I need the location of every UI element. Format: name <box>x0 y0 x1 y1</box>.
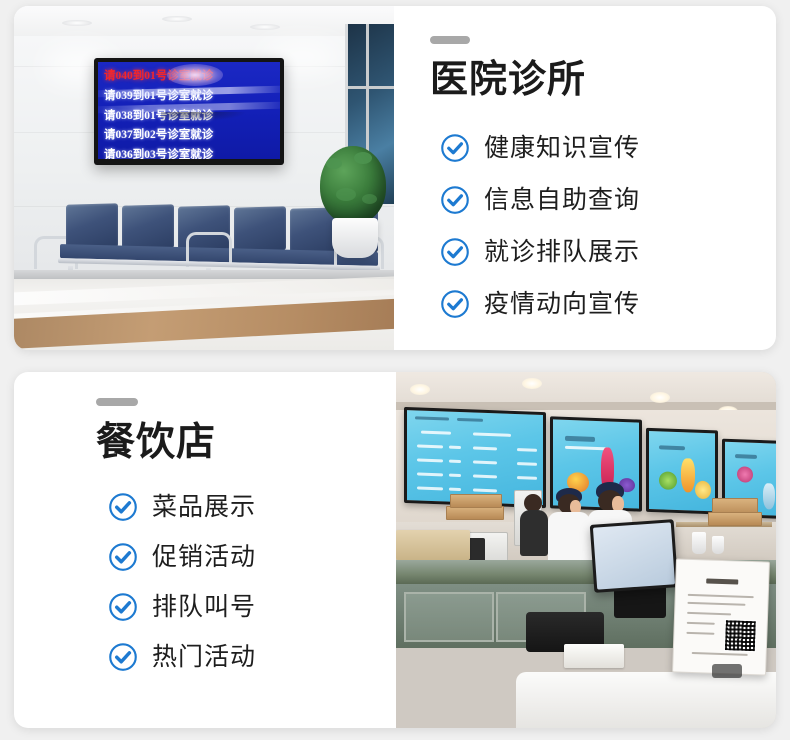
hospital-waiting-room-photo: 请040到01号诊室就诊 请039到01号诊室就诊 请038到01号诊室就诊 请… <box>14 6 394 350</box>
section-dash-icon <box>430 36 470 44</box>
card-restaurant[interactable]: 餐饮店 菜品展示 促销活动 <box>14 372 776 728</box>
list-item: 信息自助查询 <box>440 185 776 215</box>
queue-line: 请037到02号诊室就诊 <box>104 126 274 146</box>
queue-line: 请036到03号诊室就诊 <box>104 146 274 159</box>
pos-terminal <box>590 519 679 593</box>
section-dash-icon <box>96 398 138 406</box>
staff-member <box>520 494 550 556</box>
screen-glare <box>167 64 223 86</box>
check-circle-icon <box>440 237 470 267</box>
list-item: 就诊排队展示 <box>440 237 776 267</box>
page-title: 餐饮店 <box>96 423 396 462</box>
check-circle-icon <box>440 289 470 319</box>
check-circle-icon <box>108 492 138 522</box>
potted-plant <box>320 146 386 224</box>
qr-sign-stand <box>672 558 770 675</box>
qr-code-icon <box>724 619 757 652</box>
restaurant-counter-photo <box>396 372 776 728</box>
feature-list-hospital: 健康知识宣传 信息自助查询 就诊排队展示 <box>430 133 776 319</box>
feature-list-restaurant: 菜品展示 促销活动 排队叫号 <box>96 492 396 672</box>
check-circle-icon <box>108 642 138 672</box>
feature-label: 就诊排队展示 <box>484 240 640 265</box>
list-item: 促销活动 <box>108 542 396 572</box>
feature-label: 健康知识宣传 <box>484 136 640 161</box>
hospital-text-pane: 医院诊所 健康知识宣传 信息自助查询 <box>394 6 776 350</box>
check-circle-icon <box>108 542 138 572</box>
check-circle-icon <box>108 592 138 622</box>
list-item: 菜品展示 <box>108 492 396 522</box>
feature-label: 信息自助查询 <box>484 188 640 213</box>
check-circle-icon <box>440 133 470 163</box>
check-circle-icon <box>440 185 470 215</box>
feature-label: 菜品展示 <box>152 495 256 520</box>
list-item: 健康知识宣传 <box>440 133 776 163</box>
list-item: 热门活动 <box>108 642 396 672</box>
restaurant-text-pane: 餐饮店 菜品展示 促销活动 <box>14 372 396 728</box>
list-item: 排队叫号 <box>108 592 396 622</box>
feature-label: 热门活动 <box>152 645 256 670</box>
page-title: 医院诊所 <box>430 61 776 99</box>
staff-member <box>548 488 594 568</box>
card-hospital[interactable]: 请040到01号诊室就诊 请039到01号诊室就诊 请038到01号诊室就诊 请… <box>14 6 776 350</box>
feature-label: 促销活动 <box>152 545 256 570</box>
feature-label: 疫情动向宣传 <box>484 292 640 317</box>
list-item: 疫情动向宣传 <box>440 289 776 319</box>
feature-label: 排队叫号 <box>152 595 256 620</box>
